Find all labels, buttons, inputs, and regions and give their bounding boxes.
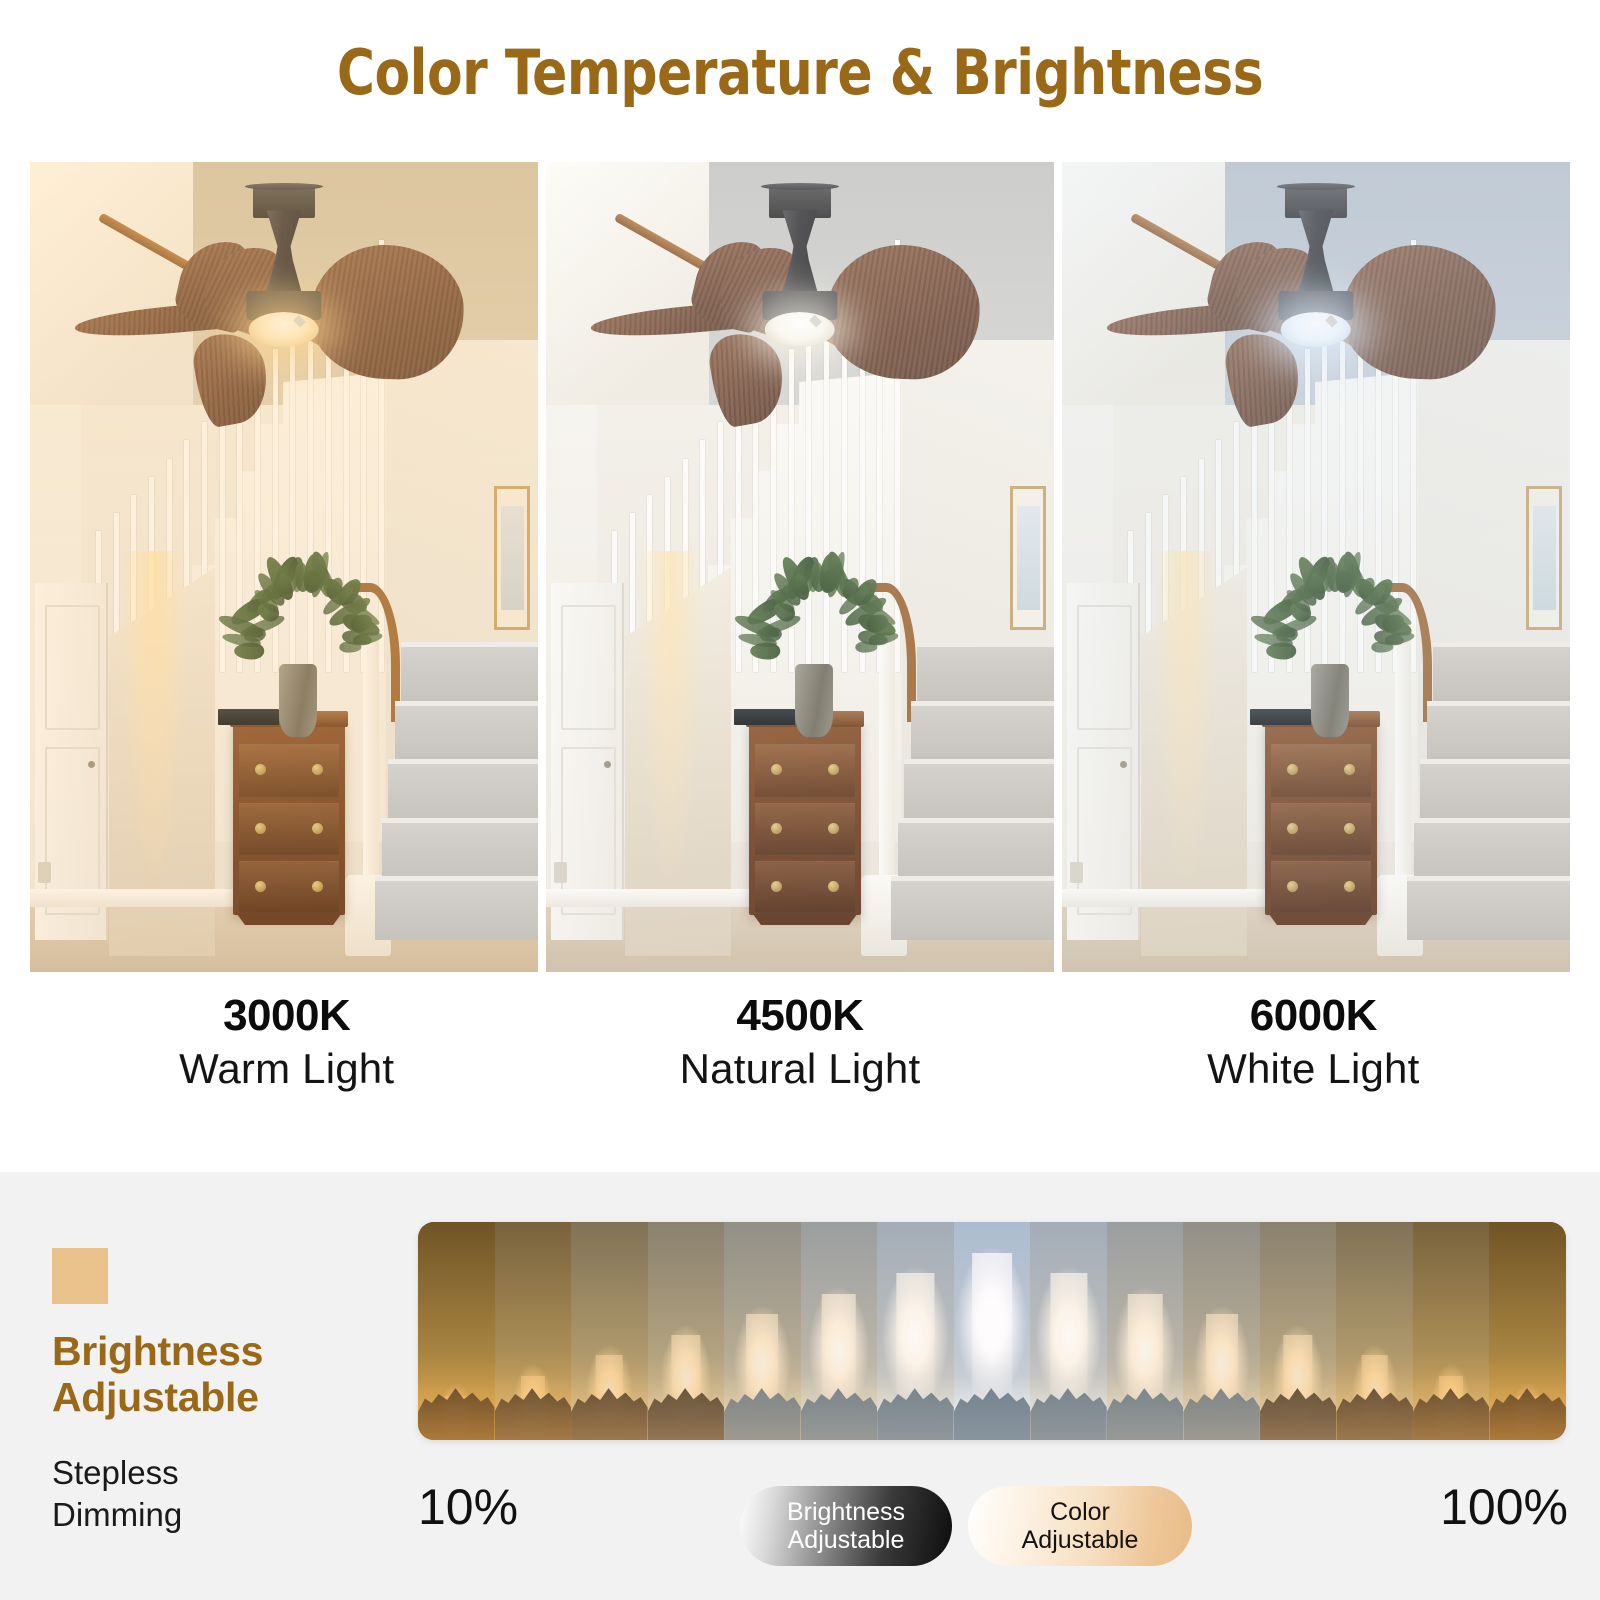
- brightness-subheading: Stepless Dimming: [52, 1452, 392, 1535]
- skirting-board: [30, 889, 233, 908]
- alcove-wall-light: [121, 551, 187, 891]
- pill-brightness-line1: Brightness: [787, 1498, 905, 1526]
- carpeted-steps: [1407, 632, 1570, 940]
- caption-4500k: 4500K Natural Light: [543, 990, 1056, 1130]
- door-panel-upper: [45, 605, 100, 730]
- caption-3000k: 3000K Warm Light: [30, 990, 543, 1130]
- room-scene-warm: [30, 162, 538, 972]
- wall-outlet: [38, 862, 51, 883]
- fan-led-light: [765, 312, 835, 347]
- wooden-chest-of-drawers: [1265, 721, 1377, 915]
- kelvin-value-3000k: 3000K: [30, 990, 543, 1042]
- chest-legs: [237, 913, 342, 925]
- wooden-chest-of-drawers: [749, 721, 861, 915]
- panelled-door: [35, 583, 108, 939]
- brightness-sub-line1: Stepless: [52, 1454, 179, 1491]
- stacked-books: [1250, 709, 1311, 725]
- color-temperature-captions: 3000K Warm Light 4500K Natural Light 600…: [30, 990, 1570, 1130]
- green-plant: [739, 551, 891, 689]
- pill-color-line2: Adjustable: [1022, 1526, 1139, 1554]
- kelvin-value-4500k: 4500K: [543, 990, 1056, 1042]
- alcove-wall-light: [637, 551, 703, 891]
- dimming-strip-cell: [1030, 1222, 1108, 1440]
- skirting-board: [1062, 889, 1265, 908]
- fan-blade: [705, 328, 790, 430]
- strip-horizon-haze: [571, 1353, 648, 1440]
- drawer: [1271, 861, 1372, 914]
- color-adjustable-pill[interactable]: Color Adjustable: [968, 1486, 1192, 1566]
- strip-horizon-haze: [1260, 1353, 1337, 1440]
- brightness-min-label: 10%: [418, 1478, 548, 1536]
- dimming-strip-cell: [1260, 1222, 1338, 1440]
- light-name-6000k: White Light: [1057, 1042, 1570, 1097]
- drawer: [1271, 744, 1372, 797]
- strip-horizon-haze: [801, 1353, 878, 1440]
- green-plant: [1255, 551, 1407, 689]
- color-temperature-panel-3000k[interactable]: [30, 162, 538, 972]
- drawer: [239, 803, 340, 856]
- strip-horizon-haze: [1030, 1353, 1107, 1440]
- brightness-adjustable-pill[interactable]: Brightness Adjustable: [740, 1486, 952, 1566]
- door-panel-upper: [1077, 605, 1132, 730]
- fan-blade: [308, 242, 465, 381]
- wall-outlet: [554, 862, 567, 883]
- strip-horizon-haze: [1489, 1353, 1566, 1440]
- pill-brightness-line2: Adjustable: [788, 1526, 905, 1554]
- brightness-color-swatch: [52, 1248, 108, 1304]
- drawer: [755, 744, 856, 797]
- carpeted-steps: [891, 632, 1054, 940]
- chest-legs: [753, 913, 858, 925]
- ceiling-fan: [66, 186, 503, 453]
- strip-horizon-haze: [1336, 1353, 1413, 1440]
- ceiling-fan: [1098, 186, 1535, 453]
- light-name-4500k: Natural Light: [543, 1042, 1056, 1097]
- stacked-books: [218, 709, 279, 725]
- color-temperature-panel-6000k[interactable]: [1062, 162, 1570, 972]
- brightness-heading: Brightness Adjustable: [52, 1328, 392, 1421]
- color-temperature-gallery: [30, 162, 1570, 972]
- fan-led-light: [1281, 312, 1351, 347]
- dimming-strip-cell: [418, 1222, 496, 1440]
- dimming-strip-cell: [1107, 1222, 1185, 1440]
- brightness-heading-line1: Brightness: [52, 1328, 263, 1374]
- dimming-gradient-strip[interactable]: [418, 1222, 1566, 1440]
- dimming-strip-cell: [495, 1222, 573, 1440]
- dimming-strip-cell: [1413, 1222, 1491, 1440]
- dimming-strip-cell: [571, 1222, 649, 1440]
- panelled-door: [1067, 583, 1140, 939]
- drawer: [239, 861, 340, 914]
- panelled-door: [551, 583, 624, 939]
- strip-horizon-haze: [954, 1353, 1031, 1440]
- strip-horizon-haze: [1413, 1353, 1490, 1440]
- chest-legs: [1269, 913, 1374, 925]
- framed-picture: [494, 486, 530, 630]
- skirting-board: [546, 889, 749, 908]
- green-plant: [223, 551, 375, 689]
- wooden-chest-of-drawers: [233, 721, 345, 915]
- dimming-strip-cell: [877, 1222, 955, 1440]
- fan-blade: [824, 242, 981, 381]
- strip-horizon-haze: [1183, 1353, 1260, 1440]
- pill-color-line1: Color: [1050, 1498, 1110, 1526]
- framed-picture: [1526, 486, 1562, 630]
- dimming-strip-cell: [954, 1222, 1032, 1440]
- kelvin-value-6000k: 6000K: [1057, 990, 1570, 1042]
- strip-horizon-haze: [648, 1353, 725, 1440]
- drawer: [239, 744, 340, 797]
- wall-outlet: [1070, 862, 1083, 883]
- carpeted-steps: [375, 632, 538, 940]
- color-temperature-panel-4500k[interactable]: [546, 162, 1054, 972]
- strip-horizon-haze: [1107, 1353, 1184, 1440]
- dimming-strip-cell: [648, 1222, 726, 1440]
- fan-blade: [189, 328, 274, 430]
- stacked-books: [734, 709, 795, 725]
- strip-horizon-haze: [877, 1353, 954, 1440]
- fan-led-light: [249, 312, 319, 347]
- alcove-wall-light: [1153, 551, 1219, 891]
- strip-horizon-haze: [418, 1353, 495, 1440]
- ceiling-fan: [582, 186, 1019, 453]
- fan-blade: [1340, 242, 1497, 381]
- strip-horizon-haze: [724, 1353, 801, 1440]
- room-scene-natural: [546, 162, 1054, 972]
- door-panel-upper: [561, 605, 616, 730]
- drawer: [1271, 803, 1372, 856]
- dimming-strip-cell: [1183, 1222, 1261, 1440]
- drawer: [755, 803, 856, 856]
- brightness-sub-line2: Dimming: [52, 1496, 182, 1533]
- brightness-heading-line2: Adjustable: [52, 1374, 259, 1420]
- drawer: [755, 861, 856, 914]
- caption-6000k: 6000K White Light: [1057, 990, 1570, 1130]
- brightness-max-label: 100%: [1348, 1478, 1568, 1536]
- strip-horizon-haze: [495, 1353, 572, 1440]
- page-title: Color Temperature & Brightness: [56, 36, 1544, 109]
- dimming-strip-cell: [801, 1222, 879, 1440]
- light-name-3000k: Warm Light: [30, 1042, 543, 1097]
- framed-picture: [1010, 486, 1046, 630]
- dimming-strip-cell: [1489, 1222, 1566, 1440]
- room-scene-white: [1062, 162, 1570, 972]
- fan-blade: [1221, 328, 1306, 430]
- dimming-strip-cell: [1336, 1222, 1414, 1440]
- dimming-strip-cell: [724, 1222, 802, 1440]
